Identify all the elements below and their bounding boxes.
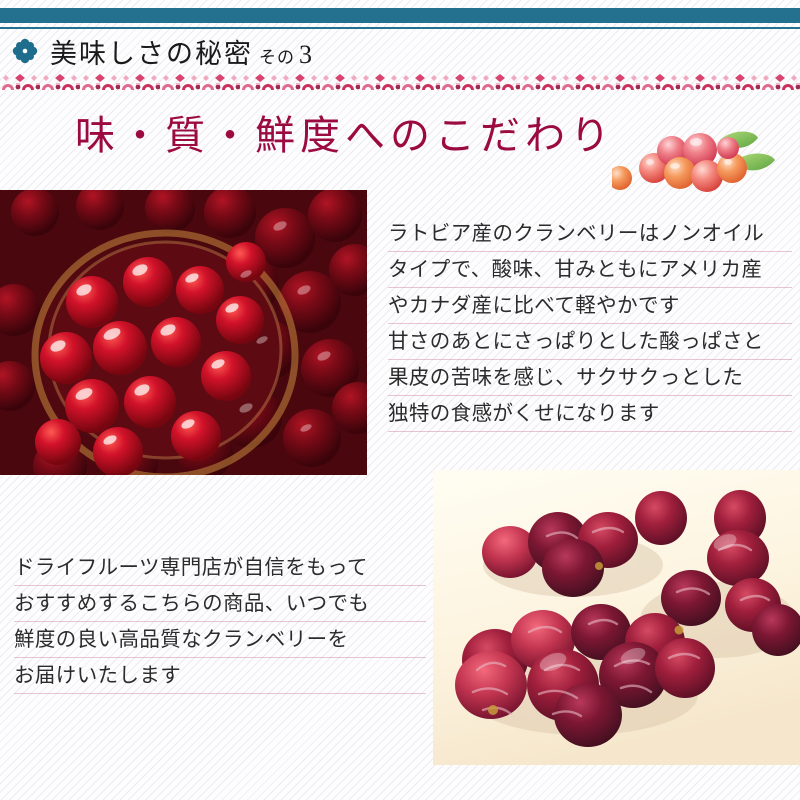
header-subtitle: その xyxy=(259,48,295,67)
text-line: 独特の食感がくせになります xyxy=(388,396,792,432)
top-teal-bar xyxy=(0,8,800,23)
text-line: おすすめするこちらの商品、いつでも xyxy=(14,586,426,622)
section-header: 美味しさの秘密その3 xyxy=(0,30,800,72)
header-title: 美味しさの秘密その3 xyxy=(50,32,312,71)
text-line: ドライフルーツ専門店が自信をもって xyxy=(14,550,426,586)
top-teal-underline xyxy=(0,27,800,29)
fresh-cranberries-photo xyxy=(0,190,367,475)
description-text-block-bottom: ドライフルーツ専門店が自信をもって おすすめするこちらの商品、いつでも 鮮度の良… xyxy=(14,550,426,694)
promo-page: 美味しさの秘密その3 xyxy=(0,0,800,800)
text-line: 鮮度の良い高品質なクランベリーを xyxy=(14,622,426,658)
decorative-pattern-band xyxy=(0,72,800,92)
text-line: 果皮の苦味を感じ、サクサクっとした xyxy=(388,360,792,396)
header-title-text: 美味しさの秘密 xyxy=(50,39,253,69)
text-line: 甘さのあとにさっぱりとした酸っぱさと xyxy=(388,324,792,360)
text-line: タイプで、酸味、甘みともにアメリカ産 xyxy=(388,252,792,288)
text-line: やカナダ産に比べて軽やかです xyxy=(388,288,792,324)
text-line: ラトビア産のクランベリーはノンオイル xyxy=(388,216,792,252)
text-line: お届けいたします xyxy=(14,658,426,694)
cranberry-cluster-illustration xyxy=(612,118,792,194)
dried-cranberries-photo xyxy=(433,470,800,765)
description-text-block-right: ラトビア産のクランベリーはノンオイル タイプで、酸味、甘みともにアメリカ産 やカ… xyxy=(388,216,792,432)
header-number: 3 xyxy=(299,40,312,69)
flower-ornament-icon xyxy=(12,38,38,64)
